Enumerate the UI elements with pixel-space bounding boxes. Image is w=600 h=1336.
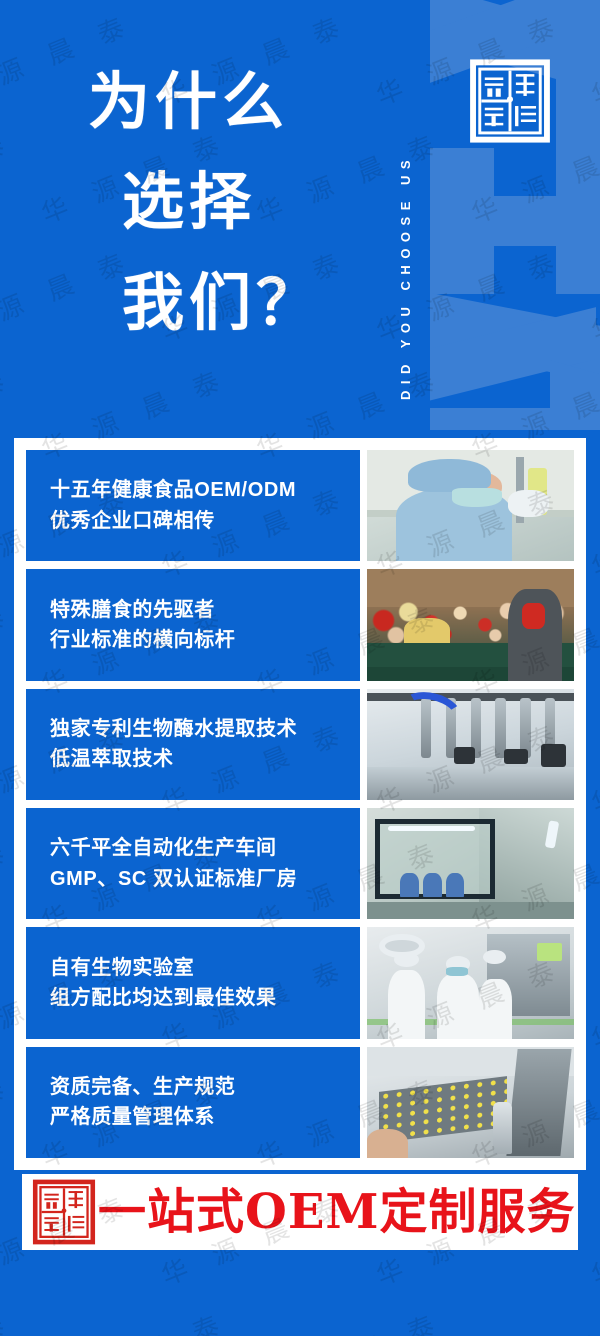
features-list: 十五年健康食品OEM/ODM 优秀企业口碑相传 特殊膳食的先驱者 行业标准的横向… (20, 444, 580, 1164)
photo-conference-audience (367, 569, 574, 680)
feature-line-2: 优秀企业口碑相传 (50, 506, 360, 536)
feature-line-1: 资质完备、生产规范 (50, 1072, 360, 1102)
title-line-1: 为什么 (88, 52, 388, 152)
feature-line-2: 低温萃取技术 (50, 744, 360, 774)
feature-text-block: 十五年健康食品OEM/ODM 优秀企业口碑相传 (26, 450, 360, 561)
watermark-text: 华 源 晨 泰 (0, 1302, 18, 1336)
seal-stamp-red-icon (30, 1178, 98, 1246)
feature-line-1: 六千平全自动化生产车间 (50, 833, 360, 863)
list-item[interactable]: 自有生物实验室 组方配比均达到最佳效果 (26, 927, 574, 1038)
list-item[interactable]: 六千平全自动化生产车间 GMP、SC 双认证标准厂房 (26, 808, 574, 919)
poster-root: 为什么 选择 我们？ DID YOU CHOOSE US (0, 0, 600, 1336)
page-title: 为什么 选择 我们？ (88, 52, 388, 353)
banner-title: 一站式OEM定制服务 (98, 1188, 582, 1236)
poster-header: 为什么 选择 我们？ DID YOU CHOOSE US (0, 0, 600, 432)
feature-line-2: 严格质量管理体系 (50, 1102, 360, 1132)
list-item[interactable]: 资质完备、生产规范 严格质量管理体系 (26, 1047, 574, 1158)
list-item[interactable]: 十五年健康食品OEM/ODM 优秀企业口碑相传 (26, 450, 574, 561)
feature-line-1: 自有生物实验室 (50, 953, 360, 983)
watermark-text: 华 源 晨 泰 (585, 948, 600, 1057)
photo-filling-machine (367, 689, 574, 800)
photo-lab-workers (367, 927, 574, 1038)
feature-text-block: 自有生物实验室 组方配比均达到最佳效果 (26, 927, 360, 1038)
watermark-text: 华 源 晨 泰 (35, 1302, 233, 1336)
feature-line-2: 行业标准的横向标杆 (50, 625, 360, 655)
feature-text-block: 独家专利生物酶水提取技术 低温萃取技术 (26, 689, 360, 800)
feature-line-2: GMP、SC 双认证标准厂房 (50, 864, 360, 894)
feature-text-block: 六千平全自动化生产车间 GMP、SC 双认证标准厂房 (26, 808, 360, 919)
watermark-text: 华 源 晨 泰 (585, 712, 600, 821)
feature-line-1: 特殊膳食的先驱者 (50, 595, 360, 625)
vertical-english-subtitle: DID YOU CHOOSE US (398, 28, 424, 400)
feature-line-1: 十五年健康食品OEM/ODM (50, 475, 360, 505)
bottom-banner[interactable]: 一站式OEM定制服务 (22, 1174, 578, 1250)
watermark-text: 华 源 晨 泰 (585, 476, 600, 585)
title-line-2: 选择 (88, 152, 388, 252)
photo-lab-technician (367, 450, 574, 561)
title-line-3: 我们？ (88, 253, 388, 353)
list-item[interactable]: 独家专利生物酶水提取技术 低温萃取技术 (26, 689, 574, 800)
photo-tablet-packaging (367, 1047, 574, 1158)
feature-line-2: 组方配比均达到最佳效果 (50, 983, 360, 1013)
feature-text-block: 资质完备、生产规范 严格质量管理体系 (26, 1047, 360, 1158)
seal-stamp-white-icon (468, 57, 552, 145)
watermark-text: 华 源 晨 泰 (465, 1302, 600, 1336)
watermark-text: 华 源 晨 泰 (250, 1302, 448, 1336)
features-frame: 十五年健康食品OEM/ODM 优秀企业口碑相传 特殊膳食的先驱者 行业标准的横向… (14, 438, 586, 1170)
photo-cleanroom-corridor (367, 808, 574, 919)
feature-line-1: 独家专利生物酶水提取技术 (50, 714, 360, 744)
watermark-text: 华 源 晨 泰 (585, 1184, 600, 1293)
feature-text-block: 特殊膳食的先驱者 行业标准的横向标杆 (26, 569, 360, 680)
list-item[interactable]: 特殊膳食的先驱者 行业标准的横向标杆 (26, 569, 574, 680)
